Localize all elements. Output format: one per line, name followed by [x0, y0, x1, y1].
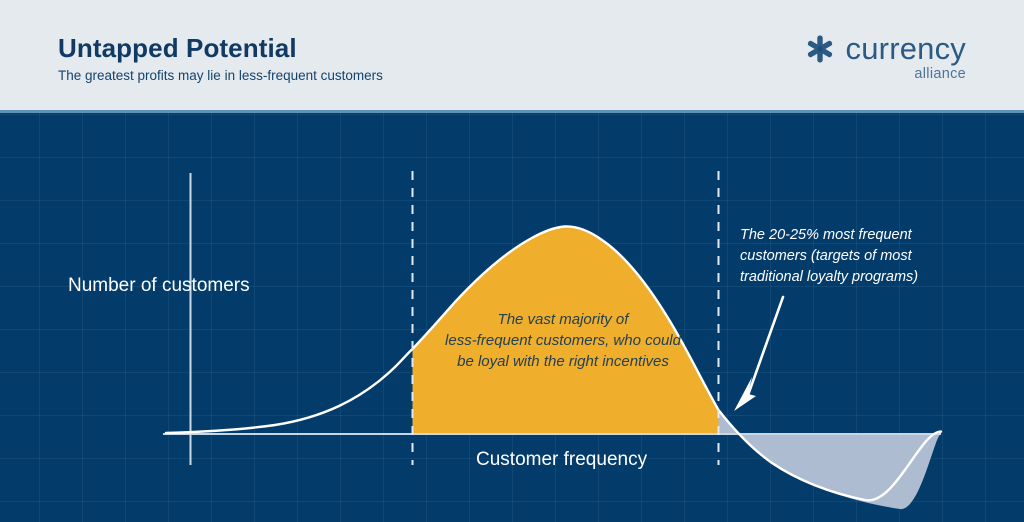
logo-wordmark: currency [846, 33, 966, 64]
annotation-arrow-icon [734, 297, 783, 411]
y-axis-label: Number of customers [68, 273, 250, 298]
currency-alliance-asterisk-icon [805, 34, 835, 64]
header-bar: Untapped Potential The greatest profits … [0, 0, 1024, 113]
logo-row: currency [805, 33, 966, 64]
logo-subword: alliance [914, 66, 966, 82]
infographic-page: Untapped Potential The greatest profits … [0, 0, 1024, 522]
chart-panel: Number of customers Customer frequency T… [0, 113, 1024, 522]
page-subtitle: The greatest profits may lie in less-fre… [58, 68, 383, 83]
less-frequent-region-note: The vast majority of less-frequent custo… [424, 309, 702, 372]
asterisk-icon-svg [805, 34, 835, 64]
page-title: Untapped Potential [58, 33, 297, 64]
brand-logo: currency alliance [805, 33, 966, 82]
x-axis-label: Customer frequency [476, 447, 647, 472]
most-frequent-region-note: The 20-25% most frequent customers (targ… [740, 225, 940, 288]
